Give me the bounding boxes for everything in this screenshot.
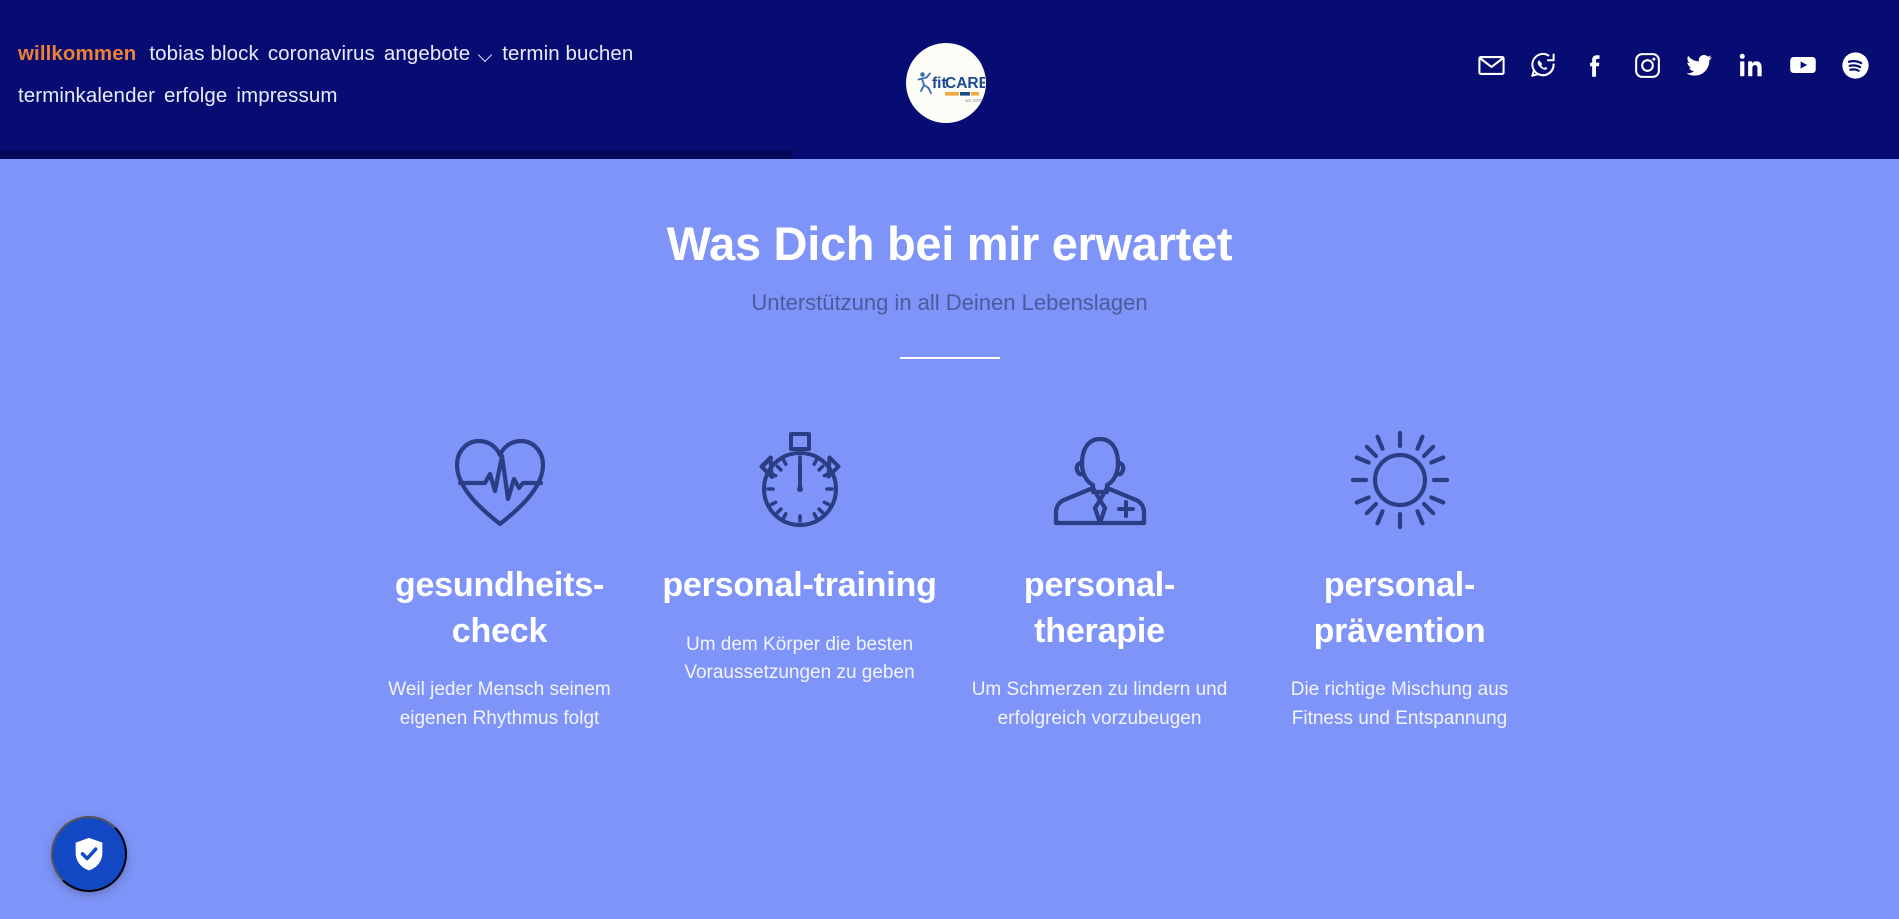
shield-check-icon [69, 834, 109, 874]
sun-icon [1262, 415, 1538, 545]
fitcare-logo[interactable]: fit CARE seit 2003 [906, 43, 986, 123]
page-subtitle: Unterstützung in all Deinen Lebenslagen [0, 289, 1899, 318]
page-title: Was Dich bei mir erwartet [0, 217, 1899, 271]
service-card-description: Die richtige Mischung aus Fitness und En… [1262, 676, 1538, 733]
svg-text:CARE: CARE [945, 75, 985, 92]
service-card-title: gesundheits-check [362, 563, 638, 655]
section-divider [900, 357, 1000, 359]
service-card-title: personal-therapie [962, 563, 1238, 655]
services-card-grid: gesundheits-check Weil jeder Mensch sein… [0, 415, 1899, 734]
nav-item-erfolge[interactable]: erfolge [164, 80, 236, 112]
service-card-description: Weil jeder Mensch seinem eigenen Rhythmu… [362, 676, 638, 733]
service-card-personal-praevention[interactable]: personal-prävention Die richtige Mischun… [1250, 415, 1550, 734]
nav-item-angebote-label[interactable]: angebote [384, 38, 470, 70]
hero-section: Was Dich bei mir erwartet Unterstützung … [0, 159, 1899, 359]
service-card-description: Um dem Körper die besten Voraussetzungen… [662, 631, 938, 688]
nav-row-secondary: terminkalender erfolge impressum [18, 80, 878, 112]
nav-item-terminkalender[interactable]: terminkalender [18, 80, 164, 112]
service-card-gesundheits-check[interactable]: gesundheits-check Weil jeder Mensch sein… [350, 415, 650, 734]
service-card-title: personal-prävention [1262, 563, 1538, 655]
nav-item-coronavirus[interactable]: coronavirus [268, 38, 384, 70]
nav-item-impressum[interactable]: impressum [236, 80, 346, 112]
facebook-icon[interactable] [1578, 48, 1612, 82]
social-links [1474, 48, 1872, 82]
service-card-personal-therapie[interactable]: personal-therapie Um Schmerzen zu linder… [950, 415, 1250, 734]
doctor-icon [962, 415, 1238, 545]
spotify-icon[interactable] [1838, 48, 1872, 82]
youtube-icon[interactable] [1786, 48, 1820, 82]
service-card-description: Um Schmerzen zu lindern und erfolgreich … [962, 676, 1238, 733]
main-content: Was Dich bei mir erwartet Unterstützung … [0, 159, 1899, 733]
stopwatch-icon [662, 415, 938, 545]
linkedin-icon[interactable] [1734, 48, 1768, 82]
chevron-down-icon[interactable] [479, 49, 492, 62]
nav-item-willkommen[interactable]: willkommen [18, 38, 149, 70]
svg-text:seit 2003: seit 2003 [965, 98, 983, 103]
email-icon[interactable] [1474, 48, 1508, 82]
nav-item-angebote[interactable]: angebote [384, 38, 502, 70]
whatsapp-icon[interactable] [1526, 48, 1560, 82]
twitter-icon[interactable] [1682, 48, 1716, 82]
heart-pulse-icon [362, 415, 638, 545]
main-navigation: willkommen tobias block coronavirus ange… [18, 38, 878, 112]
privacy-settings-button[interactable] [51, 816, 127, 892]
header-bottom-band [0, 150, 792, 159]
service-card-personal-training[interactable]: personal-training Um dem Körper die best… [650, 415, 950, 688]
nav-item-tobias-block[interactable]: tobias block [149, 38, 267, 70]
instagram-icon[interactable] [1630, 48, 1664, 82]
service-card-title: personal-training [662, 563, 938, 609]
nav-item-termin-buchen[interactable]: termin buchen [502, 38, 642, 70]
site-header: willkommen tobias block coronavirus ange… [0, 0, 1899, 159]
nav-row-primary: willkommen tobias block coronavirus ange… [18, 38, 878, 70]
